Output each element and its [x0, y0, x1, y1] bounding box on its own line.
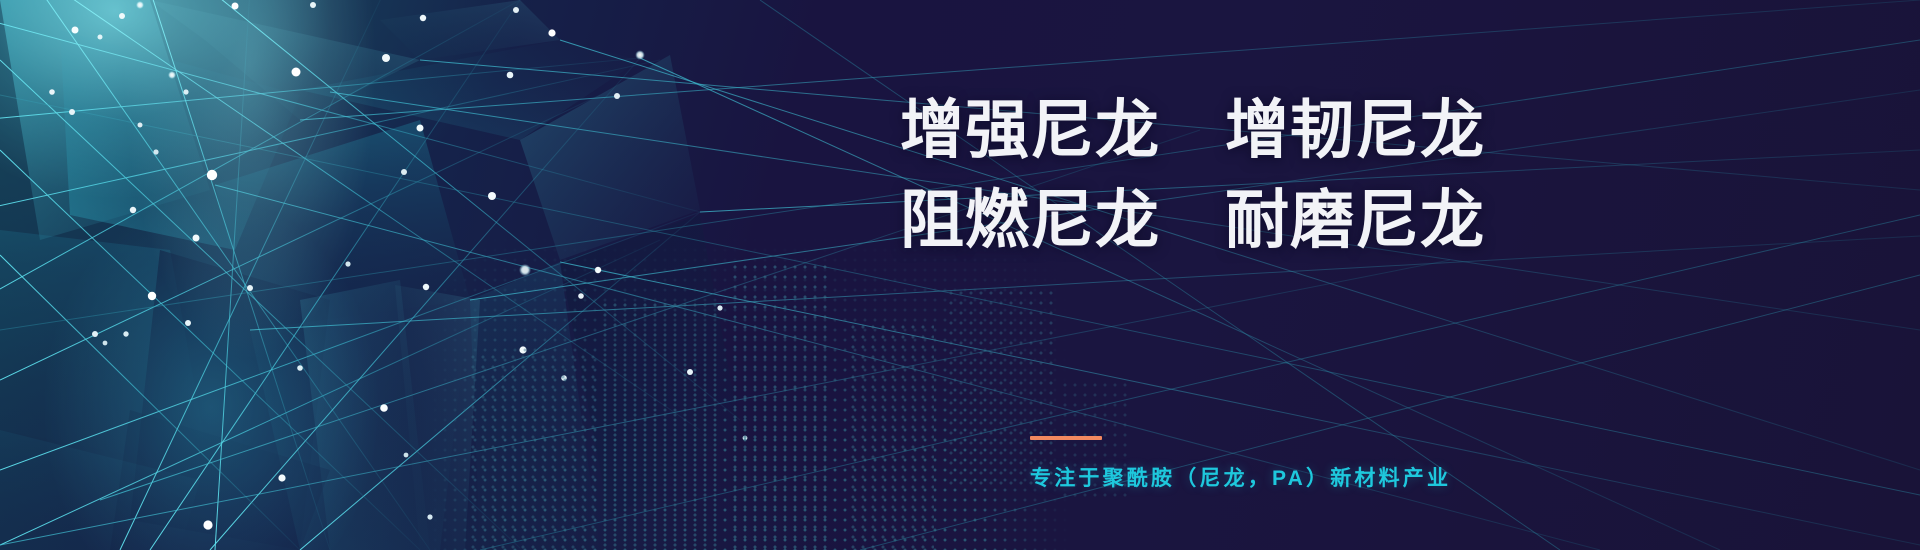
headline-line-2: 阻燃尼龙 耐磨尼龙 — [900, 188, 1485, 252]
tagline-text: 专注于聚酰胺（尼龙，PA）新材料产业 — [1030, 462, 1451, 492]
orange-rule-divider — [1030, 436, 1102, 440]
banner-content: 增强尼龙 增韧尼龙 阻燃尼龙 耐磨尼龙 专注于聚酰胺（尼龙，PA）新材料产业 — [0, 0, 1920, 550]
headline-line-1: 增强尼龙 增韧尼龙 — [900, 98, 1485, 162]
hero-banner: 增强尼龙 增韧尼龙 阻燃尼龙 耐磨尼龙 专注于聚酰胺（尼龙，PA）新材料产业 — [0, 0, 1920, 550]
